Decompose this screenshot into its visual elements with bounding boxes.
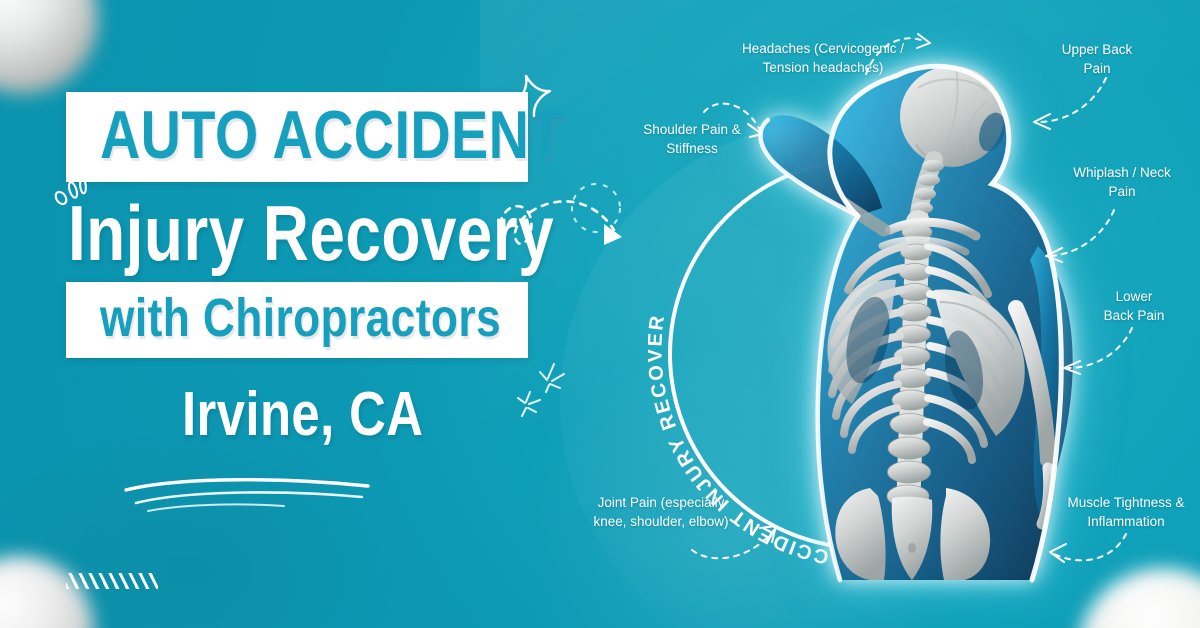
page-title: AUTO ACCIDENT <box>100 101 433 169</box>
swoosh-underline-icon <box>122 470 372 522</box>
annotation-headaches: Headaches (Cervicogenic / Tension headac… <box>735 40 911 77</box>
annotation-whiplash: Whiplash / Neck Pain <box>1058 164 1186 201</box>
annotation-lower-back: Lower Back Pain <box>1086 288 1182 325</box>
headline-block: AUTO ACCIDENT Injury Recovery with Chiro… <box>66 92 626 446</box>
annotation-joint-pain: Joint Pain (especially knee, shoulder, e… <box>586 494 736 531</box>
decor-sphere-bottom-left <box>0 556 94 628</box>
headline-band-tertiary: with Chiropractors <box>66 282 528 358</box>
headline-row-secondary: Injury Recovery <box>66 194 626 272</box>
anatomy-pelvis <box>835 488 990 581</box>
headline-with-chiropractors: with Chiropractors <box>100 291 433 345</box>
annotation-shoulder: Shoulder Pain & Stiffness <box>624 121 760 158</box>
annotation-upper-back: Upper Back Pain <box>1038 41 1156 78</box>
diagonal-hatch-icon <box>66 573 158 589</box>
headline-subtitle: Injury Recovery <box>68 194 526 272</box>
decor-sphere-top-left <box>0 0 98 94</box>
headline-band-primary: AUTO ACCIDENT <box>66 92 528 182</box>
annotation-muscle: Muscle Tightness & Inflammation <box>1056 494 1196 531</box>
promo-banner: AUTO ACCIDENT Injury Recovery with Chiro… <box>0 0 1200 628</box>
headline-location: Irvine, CA <box>182 384 546 446</box>
